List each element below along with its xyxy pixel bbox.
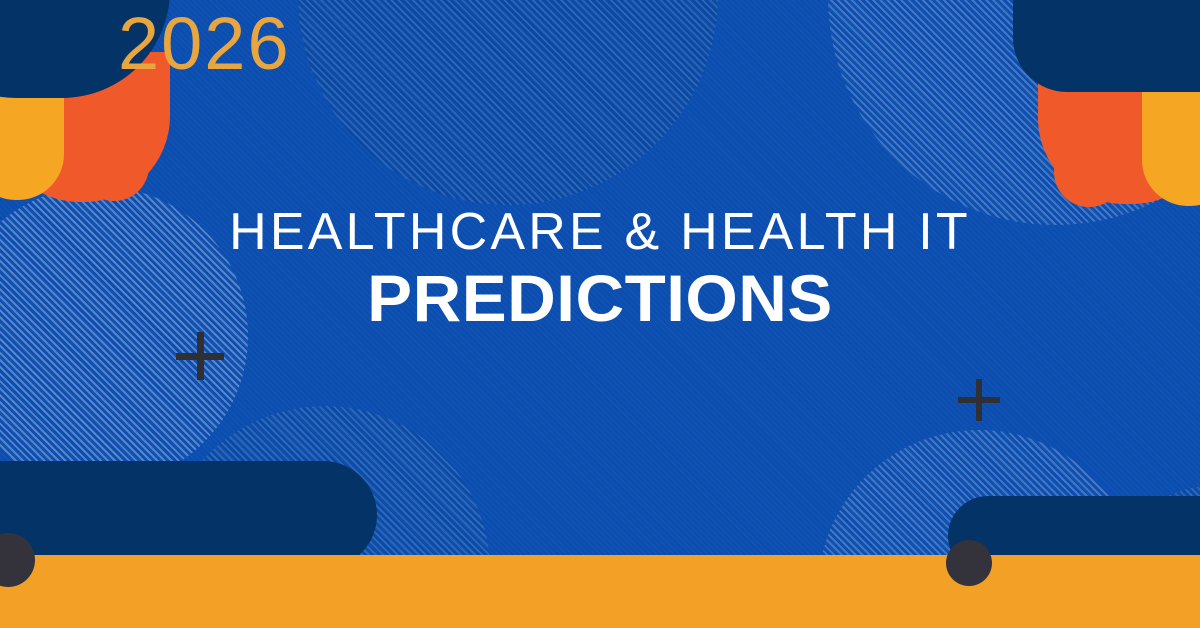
- bottom-amber-band: [0, 555, 1200, 628]
- predictions-banner: 2026 HEALTHCARE & HEALTH IT PREDICTIONS: [0, 0, 1200, 628]
- navy-pill-bottom-left: [0, 461, 377, 569]
- charcoal-dot-bottom-right: [946, 540, 992, 586]
- red-pill-top-right: [1054, 97, 1124, 207]
- red-pill-top-left: [79, 91, 149, 201]
- plus-mark-right-vertical: [976, 379, 982, 421]
- plus-mark-left-vertical: [197, 332, 204, 380]
- page-title-primary: HEALTHCARE & HEALTH IT: [0, 205, 1200, 260]
- title-block: HEALTHCARE & HEALTH IT PREDICTIONS: [0, 205, 1200, 334]
- plus-mark-right: [958, 379, 1000, 421]
- plus-mark-left: [176, 332, 224, 380]
- stripe-circle-top-center: [298, 0, 718, 205]
- page-title-secondary: PREDICTIONS: [0, 264, 1200, 334]
- navy-pill-top-right: [1013, 0, 1200, 92]
- year-label: 2026: [118, 3, 291, 84]
